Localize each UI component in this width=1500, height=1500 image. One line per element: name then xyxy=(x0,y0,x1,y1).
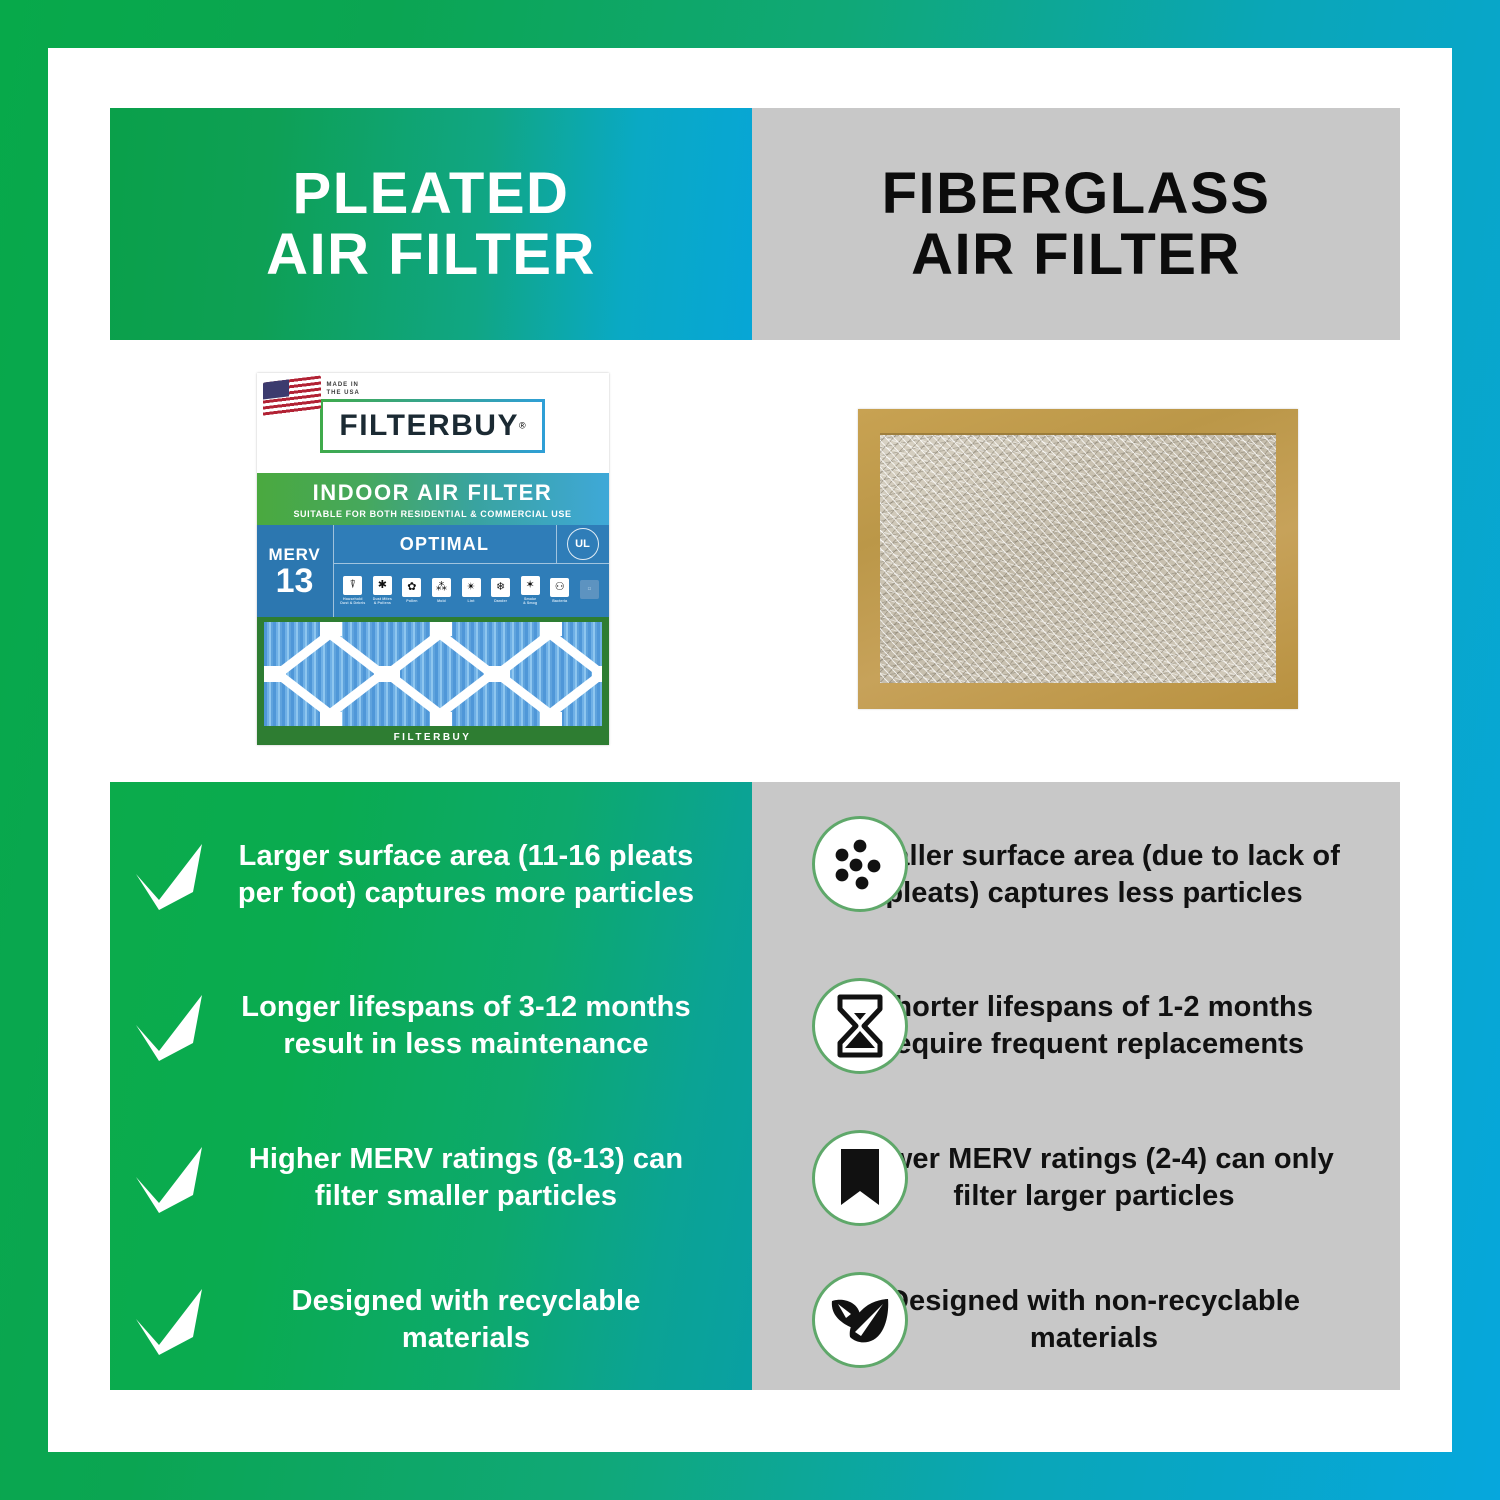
mold-icon: ⁂ xyxy=(432,578,451,597)
checkmark-icon-1 xyxy=(110,838,228,912)
header-fiberglass-line1: FIBERGLASS xyxy=(882,161,1271,226)
row-1-pleated-text: Larger surface area (11-16 pleats per fo… xyxy=(228,838,748,912)
capture-icon-7: ⚇Bacteria xyxy=(546,578,573,603)
merv-value: 13 xyxy=(276,565,314,597)
capture-icon-4: ✴Lint xyxy=(458,578,485,603)
hourglass-icon xyxy=(812,978,908,1074)
banner-title: INDOOR AIR FILTER xyxy=(313,480,553,506)
usa-flag-icon xyxy=(263,375,321,416)
filterbuy-footer-brand: FILTERBUY xyxy=(257,732,609,743)
broom-icon: ⍒ xyxy=(343,576,362,595)
capture-icon-8: ▫ xyxy=(576,580,603,601)
header-pleated-line1: PLEATED xyxy=(293,161,570,226)
spec-right-column: OPTIMAL UL ⍒HouseholdDust & Debris ✱Dust… xyxy=(334,525,609,617)
pleated-media-view: FILTERBUY xyxy=(257,617,609,745)
pleated-product-cell: MADE INTHE USA FILTERBUY® INDOOR AIR FIL… xyxy=(110,340,755,778)
banner-subtitle: SUITABLE FOR BOTH RESIDENTIAL & COMMERCI… xyxy=(293,509,571,519)
dustmite-icon: ✱ xyxy=(373,576,392,595)
capture-icon-5: ❄Dander xyxy=(487,578,514,603)
row-4-pleated-text: Designed with recyclable materials xyxy=(228,1283,748,1357)
dander-icon: ❄ xyxy=(491,578,510,597)
tier-row: OPTIMAL UL xyxy=(334,525,609,564)
filterbuy-filter-box: MADE INTHE USA FILTERBUY® INDOOR AIR FIL… xyxy=(257,373,609,745)
checkmark-icon-3 xyxy=(110,1141,228,1215)
merv-badge: MERV 13 xyxy=(257,525,334,617)
header-pleated: PLEATED AIR FILTER xyxy=(110,108,752,340)
filterbuy-box-top: MADE INTHE USA FILTERBUY® xyxy=(257,373,609,473)
fiberglass-product-cell xyxy=(755,340,1400,778)
comparison-row-1: Larger surface area (11-16 pleats per fo… xyxy=(110,800,1400,950)
support-grid-icon xyxy=(264,622,602,726)
row-3-pleated-text: Higher MERV ratings (8-13) can filter sm… xyxy=(228,1141,748,1215)
capture-icon-row: ⍒HouseholdDust & Debris ✱Dust Mites& Pol… xyxy=(334,564,609,617)
filterbuy-logo: FILTERBUY® xyxy=(320,399,544,453)
made-in-usa-label: MADE INTHE USA xyxy=(327,381,360,397)
checkmark-icon-4 xyxy=(110,1283,228,1357)
product-image-row: MADE INTHE USA FILTERBUY® INDOOR AIR FIL… xyxy=(110,340,1400,778)
smoke-icon: ✶ xyxy=(521,576,540,595)
header-pleated-line2: AIR FILTER xyxy=(266,224,596,285)
tier-label: OPTIMAL xyxy=(334,534,556,555)
capture-icon-1: ✱Dust Mites& Pollens xyxy=(369,576,396,606)
comparison-row-4: Designed with recyclable materials Desig… xyxy=(110,1254,1400,1386)
row-2-pleated: Longer lifespans of 3-12 months result i… xyxy=(110,989,752,1063)
header-band: PLEATED AIR FILTER FIBERGLASS AIR FILTER xyxy=(110,108,1400,340)
trademark-symbol: ® xyxy=(519,421,526,431)
bacteria-icon: ⚇ xyxy=(550,578,569,597)
bookmark-icon xyxy=(812,1130,908,1226)
header-fiberglass-title: FIBERGLASS AIR FILTER xyxy=(882,163,1271,286)
ul-certification: UL xyxy=(556,525,609,563)
particles-icon xyxy=(812,816,908,912)
comparison-row-3: Higher MERV ratings (8-13) can filter sm… xyxy=(110,1112,1400,1244)
row-4-pleated: Designed with recyclable materials xyxy=(110,1283,752,1357)
outer-gradient-border: PLEATED AIR FILTER FIBERGLASS AIR FILTER… xyxy=(0,0,1500,1500)
comparison-row-2: Longer lifespans of 3-12 months result i… xyxy=(110,960,1400,1092)
fiberglass-mesh-texture xyxy=(880,435,1276,683)
blank-icon: ▫ xyxy=(580,580,599,599)
filterbuy-spec-block: MERV 13 OPTIMAL UL ⍒HouseholdDust & Debr… xyxy=(257,525,609,617)
pollen-icon: ✿ xyxy=(402,578,421,597)
row-2-pleated-text: Longer lifespans of 3-12 months result i… xyxy=(228,989,748,1063)
pleated-media-texture xyxy=(264,622,602,726)
leaf-icon xyxy=(812,1272,908,1368)
capture-icon-6: ✶Smoke& Smog xyxy=(517,576,544,606)
ul-mark-icon: UL xyxy=(567,528,599,560)
capture-icon-3: ⁂Mold xyxy=(428,578,455,603)
row-1-pleated: Larger surface area (11-16 pleats per fo… xyxy=(110,838,752,912)
fiberglass-filter-image xyxy=(858,409,1298,709)
lint-icon: ✴ xyxy=(462,578,481,597)
row-3-pleated: Higher MERV ratings (8-13) can filter sm… xyxy=(110,1141,752,1215)
capture-icon-2: ✿Pollen xyxy=(399,578,426,603)
header-fiberglass: FIBERGLASS AIR FILTER xyxy=(752,108,1400,340)
indoor-air-filter-banner: INDOOR AIR FILTER SUITABLE FOR BOTH RESI… xyxy=(257,473,609,525)
capture-icon-0: ⍒HouseholdDust & Debris xyxy=(340,576,367,606)
header-fiberglass-line2: AIR FILTER xyxy=(882,224,1271,285)
comparison-rows: Larger surface area (11-16 pleats per fo… xyxy=(110,782,1400,1390)
checkmark-icon-2 xyxy=(110,989,228,1063)
filterbuy-logo-text: FILTERBUY xyxy=(339,409,519,442)
header-pleated-title: PLEATED AIR FILTER xyxy=(266,163,596,286)
